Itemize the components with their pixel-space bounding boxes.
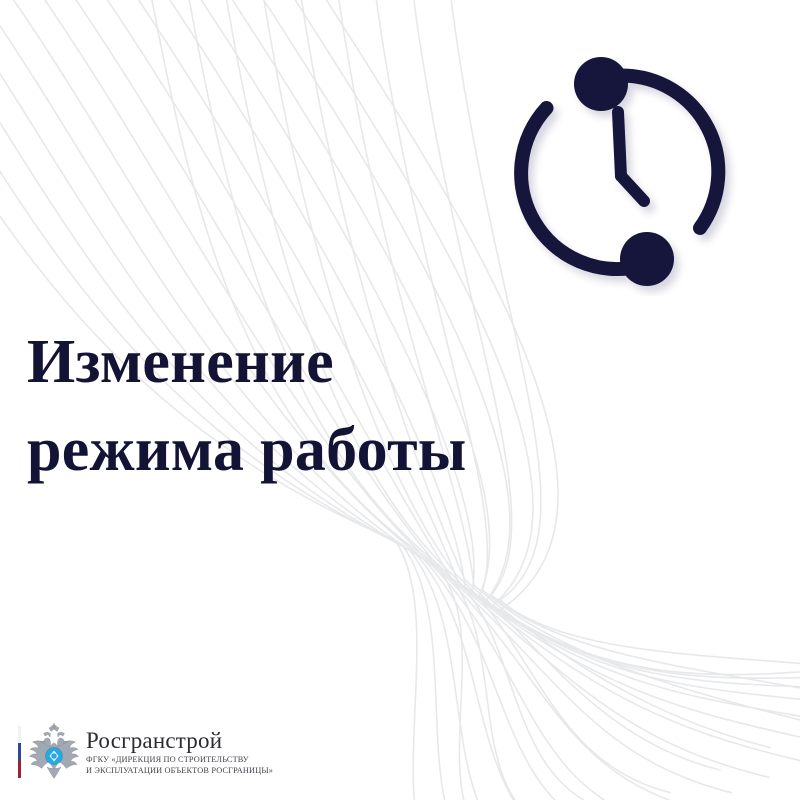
logo-subtitle-line-1: ФГКУ «ДИРЕКЦИЯ ПО СТРОИТЕЛЬСТВУ: [86, 755, 273, 766]
logo-text-block: Росгранстрой ФГКУ «ДИРЕКЦИЯ ПО СТРОИТЕЛЬ…: [86, 728, 273, 776]
logo-subtitle: ФГКУ «ДИРЕКЦИЯ ПО СТРОИТЕЛЬСТВУ И ЭКСПЛУ…: [86, 755, 273, 776]
page-title: Изменение режима работы: [27, 318, 667, 494]
organization-logo: Росгранстрой ФГКУ «ДИРЕКЦИЯ ПО СТРОИТЕЛЬ…: [18, 712, 273, 792]
russian-eagle-emblem-icon: [28, 723, 80, 781]
poster-canvas: Изменение режима работы: [0, 0, 800, 800]
tricolor-bar-icon: [18, 726, 21, 778]
page-title-line-1: Изменение: [27, 318, 667, 406]
clock-dot-top: [574, 57, 628, 111]
clock-dot-bottom: [620, 232, 674, 286]
clock-icon: [506, 46, 756, 296]
logo-subtitle-line-2: И ЭКСПЛУАТАЦИИ ОБЪЕКТОВ РОСГРАНИЦЫ»: [86, 766, 273, 777]
logo-wordmark: Росгранстрой: [86, 728, 273, 753]
clock-arc-upper: [623, 76, 719, 228]
clock-icon-shape: [521, 57, 718, 286]
clock-hand-minute: [621, 176, 644, 201]
emblem-shield-center: [51, 753, 57, 759]
clock-hand-hour: [618, 112, 621, 176]
page-title-line-2: режима работы: [27, 406, 667, 494]
